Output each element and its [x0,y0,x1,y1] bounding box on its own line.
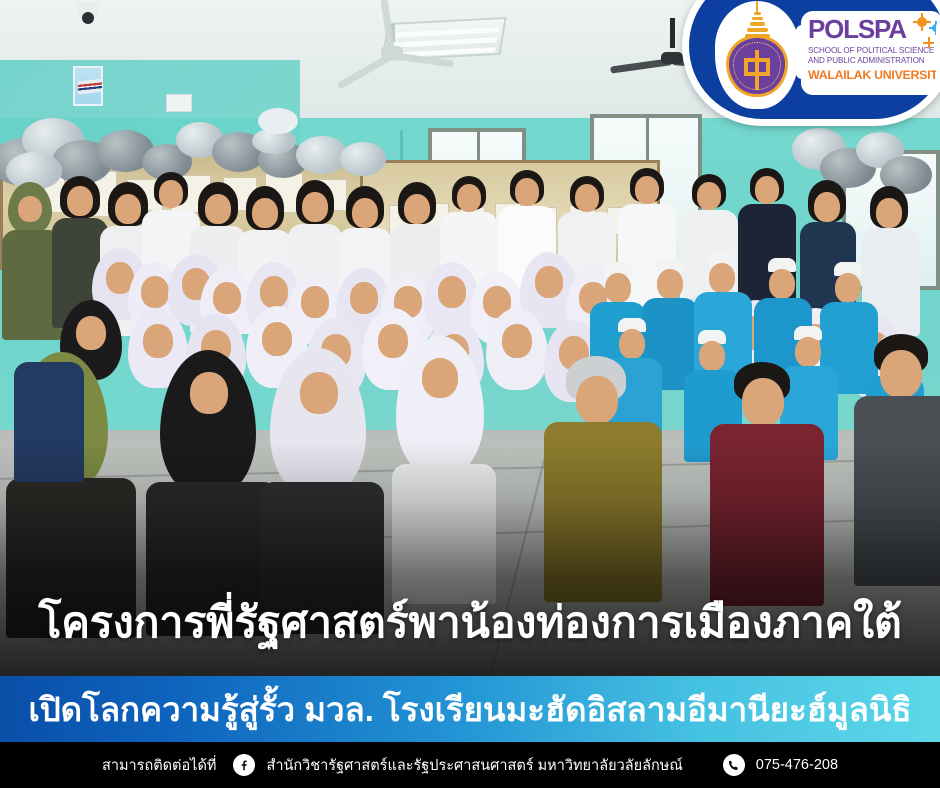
emblem-shield-icon [726,35,788,97]
walailak-university-emblem [715,1,799,109]
phone-icon[interactable] [723,754,745,776]
subtitle-text: เปิดโลกความรู้สู่รั้ว มวล. โรงเรียนมะฮัด… [28,693,911,726]
phone-number[interactable]: 075-476-208 [756,757,838,773]
cloud-decoration [258,108,298,134]
cloud-decoration [340,142,386,176]
facebook-page-name[interactable]: สำนักวิชารัฐศาสตร์และรัฐประศาสนศาสตร์ มห… [266,754,682,777]
wall-notice [166,94,192,112]
ceiling-fan [330,40,454,64]
facebook-icon[interactable] [233,754,255,776]
page-title: โครงการพี่รัฐศาสตร์พาน้องท่องการเมืองภาค… [0,600,940,647]
thai-flag-poster [73,66,103,106]
contact-lead-text: สามารถติดต่อได้ที่ [102,754,217,777]
sparkle-icon [923,37,934,48]
polspa-logo-badge: POLSPA SCHOOL OF POLITICAL SCIENCE AND P… [682,0,940,126]
sparkle-icon [929,21,940,35]
wordmark-text: POLSPA [808,16,906,42]
wordmark-line2: AND PUBLIC ADMINISTRATION [808,57,925,65]
subtitle-band: เปิดโลกความรู้สู่รั้ว มวล. โรงเรียนมะฮัด… [0,676,940,742]
cctv-camera-icon [78,2,98,18]
poster: โครงการพี่รัฐศาสตร์พาน้องท่องการเมืองภาค… [0,0,940,788]
emblem-monogram-icon [744,50,770,90]
emblem-spire-icon [745,1,769,39]
contact-footer: สามารถติดต่อได้ที่ สำนักวิชารัฐศาสตร์และ… [0,742,940,788]
wordmark-line1: SCHOOL OF POLITICAL SCIENCE [808,47,934,55]
polspa-wordmark: POLSPA SCHOOL OF POLITICAL SCIENCE AND P… [801,11,940,95]
wordmark-line3: WALAILAK UNIVERSITY [808,69,940,81]
